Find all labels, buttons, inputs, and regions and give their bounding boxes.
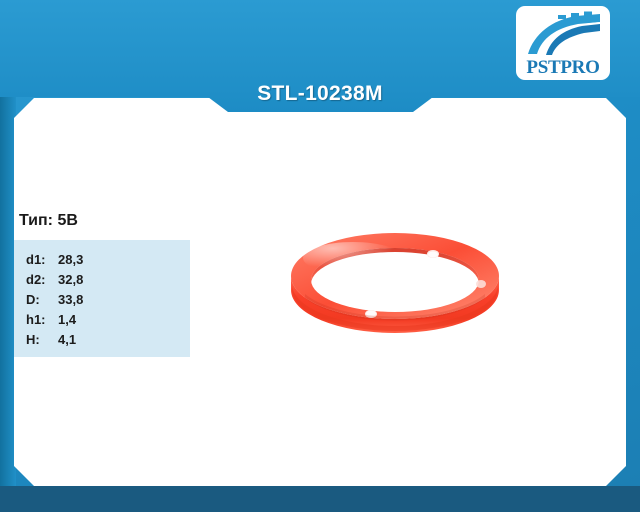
background-bottom-band xyxy=(0,486,640,512)
table-row: h1: 1,4 xyxy=(26,309,190,329)
spec-value: 4,1 xyxy=(58,332,76,347)
table-row: D: 33,8 xyxy=(26,289,190,309)
brand-logo[interactable]: PSTPRO xyxy=(516,6,610,80)
table-row: H: 4,1 xyxy=(26,329,190,349)
table-row: d1: 28,3 xyxy=(26,249,190,269)
spec-value: 1,4 xyxy=(58,312,76,327)
spec-value: 33,8 xyxy=(58,292,83,307)
spec-key: d1: xyxy=(26,252,58,267)
brand-logo-text: PSTPRO xyxy=(516,57,610,79)
part-number-title: STL-10238M xyxy=(0,82,640,106)
type-label: Тип: 5В xyxy=(19,212,78,230)
spec-value: 28,3 xyxy=(58,252,83,267)
road-bridge-icon xyxy=(522,10,604,56)
table-row: d2: 32,8 xyxy=(26,269,190,289)
spec-key: H: xyxy=(26,332,58,347)
spec-key: d2: xyxy=(26,272,58,287)
spec-key: h1: xyxy=(26,312,58,327)
spec-key: D: xyxy=(26,292,58,307)
red-seal-ring-photo xyxy=(285,228,505,358)
specification-table: d1: 28,3 d2: 32,8 D: 33,8 h1: 1,4 H: 4,1 xyxy=(14,240,190,357)
spec-value: 32,8 xyxy=(58,272,83,287)
